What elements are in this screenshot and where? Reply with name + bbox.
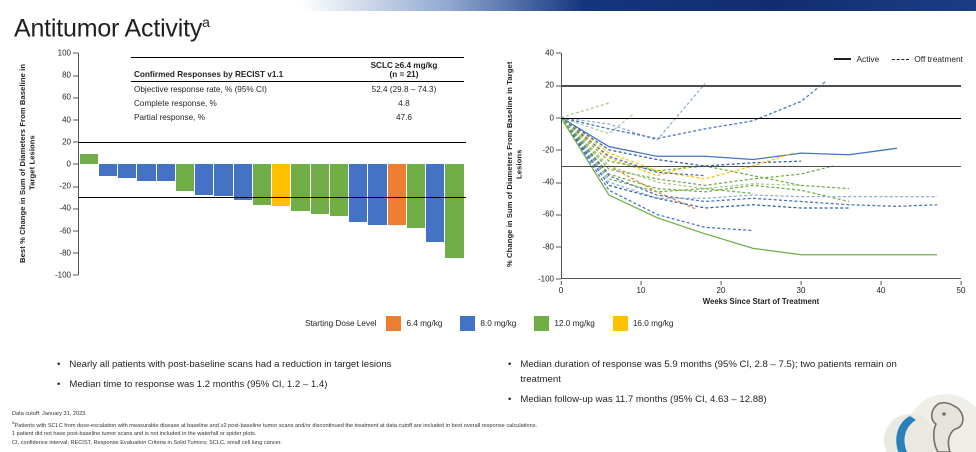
dose-legend-item: 12.0 mg/kg <box>534 316 595 331</box>
waterfall-bar <box>234 164 252 200</box>
waterfall-bar <box>253 164 271 205</box>
waterfall-bar <box>118 164 136 178</box>
waterfall-bar-slot <box>252 53 271 275</box>
dose-legend-item: 6.4 mg/kg <box>386 316 442 331</box>
spider-plot-area <box>561 53 961 279</box>
bullet-dot-icon: • <box>57 378 60 393</box>
spider-x-tick: 50 <box>957 281 966 295</box>
waterfall-bar-slot <box>118 53 137 275</box>
starting-dose-level-legend: Starting Dose Level 6.4 mg/kg8.0 mg/kg12… <box>305 316 684 331</box>
top-banner <box>300 0 976 11</box>
waterfall-bar <box>195 164 213 195</box>
spider-plot: % Change in Sum of Diameters From Baseli… <box>505 48 967 298</box>
waterfall-bar-slot <box>156 53 175 275</box>
waterfall-bar <box>388 164 406 225</box>
spider-y-tick: -20 <box>542 145 561 154</box>
spider-y-tick: -100 <box>538 275 561 284</box>
spider-x-ticks: 01020304050 <box>561 281 961 297</box>
waterfall-bar-slot <box>368 53 387 275</box>
waterfall-bar-slot <box>79 53 98 275</box>
waterfall-reference-line <box>78 197 466 198</box>
spider-series-line <box>561 84 705 141</box>
waterfall-bar-slot <box>329 53 348 275</box>
waterfall-bar-slot <box>233 53 252 275</box>
waterfall-y-tick: -80 <box>59 248 78 257</box>
spider-x-tick: 40 <box>877 281 886 295</box>
waterfall-bar <box>407 164 425 228</box>
waterfall-bar <box>214 164 232 196</box>
dose-color-swatch <box>613 316 628 331</box>
footnotes: Data cutoff: January 31, 2023. aPatients… <box>12 410 872 447</box>
waterfall-bar-slot <box>387 53 406 275</box>
waterfall-y-axis-title: Best % Change in Sum of Diameters From B… <box>18 56 32 270</box>
waterfall-y-tick: 20 <box>62 137 78 146</box>
waterfall-plot: Best % Change in Sum of Diameters From B… <box>16 48 466 293</box>
dose-color-swatch <box>386 316 401 331</box>
footnote-line: CI, confidence interval; RECIST, Respons… <box>12 439 872 448</box>
spider-reference-line <box>561 118 961 119</box>
waterfall-bar <box>137 164 155 181</box>
waterfall-bar <box>80 154 98 164</box>
waterfall-bar <box>445 164 463 258</box>
footnote-line: 1 patient did not have post-baseline tum… <box>12 430 872 439</box>
spider-y-ticks: 40200-20-40-60-80-100 <box>519 53 561 279</box>
footnote-line: aPatients with SCLC from dose-escalation… <box>12 419 872 431</box>
waterfall-bar <box>426 164 444 242</box>
bullets-left: • Nearly all patients with post-baseline… <box>57 358 487 398</box>
waterfall-y-tick: 0 <box>67 160 78 169</box>
lion-crest-icon <box>880 390 976 452</box>
spider-x-tick: 30 <box>797 281 806 295</box>
bullet-text: Median time to response was 1.2 months (… <box>69 378 487 393</box>
spider-x-tick: 0 <box>559 281 563 295</box>
spider-series-line <box>561 118 801 166</box>
page-title: Antitumor Activitya <box>14 14 210 43</box>
waterfall-y-tick: -60 <box>59 226 78 235</box>
legend-off-treatment-label: Off treatment <box>914 54 963 64</box>
dose-legend-item-label: 6.4 mg/kg <box>406 319 442 328</box>
waterfall-bar <box>311 164 329 214</box>
waterfall-y-ticks: 100806040200-20-40-60-80-100 <box>34 53 78 275</box>
legend-off-treatment-line-icon <box>892 59 909 60</box>
waterfall-y-tick: 60 <box>62 93 78 102</box>
page-title-text: Antitumor Activity <box>14 14 202 42</box>
waterfall-y-tick: 80 <box>62 71 78 80</box>
spider-series-line <box>561 118 897 160</box>
dose-color-swatch <box>460 316 475 331</box>
waterfall-bar-slot <box>195 53 214 275</box>
dose-legend-item-label: 8.0 mg/kg <box>480 319 516 328</box>
dose-legend-item: 8.0 mg/kg <box>460 316 516 331</box>
waterfall-bar <box>349 164 367 222</box>
dose-color-swatch <box>534 316 549 331</box>
bullet-dot-icon: • <box>57 358 60 373</box>
waterfall-bars <box>79 53 464 275</box>
footnote-text: Patients with SCLC from dose-escalation … <box>15 423 538 429</box>
spider-reference-line <box>561 166 961 167</box>
waterfall-y-tick: 100 <box>58 49 78 58</box>
waterfall-reference-line <box>78 142 466 143</box>
list-item: • Median follow-up was 11.7 months (95% … <box>508 393 928 408</box>
spider-series-line <box>561 82 825 139</box>
spider-y-tick: 40 <box>545 49 561 58</box>
waterfall-plot-area <box>78 53 464 275</box>
spider-y-axis-title: % Change in Sum of Diameters From Baseli… <box>505 58 519 270</box>
spider-legend: Active Off treatment <box>834 54 963 64</box>
bullet-dot-icon: • <box>508 393 511 408</box>
waterfall-y-tick: -100 <box>55 271 78 280</box>
spider-series-line <box>561 103 609 118</box>
waterfall-bar-slot <box>98 53 117 275</box>
spider-y-tick: -60 <box>542 210 561 219</box>
spider-x-tick: 10 <box>637 281 646 295</box>
dose-legend-item-label: 16.0 mg/kg <box>633 319 674 328</box>
waterfall-bar-slot <box>291 53 310 275</box>
spider-x-tick: 20 <box>717 281 726 295</box>
waterfall-bar-slot <box>406 53 425 275</box>
waterfall-bar-slot <box>426 53 445 275</box>
waterfall-bar-slot <box>349 53 368 275</box>
waterfall-bar <box>176 164 194 191</box>
spider-series-line <box>561 118 937 255</box>
waterfall-bar <box>157 164 175 181</box>
legend-active-line-icon <box>834 58 851 60</box>
list-item: • Median duration of response was 5.9 mo… <box>508 358 928 388</box>
legend-active-label: Active <box>856 54 879 64</box>
spider-y-tick: -80 <box>542 242 561 251</box>
dose-legend-item: 16.0 mg/kg <box>613 316 674 331</box>
bullets-right: • Median duration of response was 5.9 mo… <box>508 358 928 413</box>
bullet-text: Median follow-up was 11.7 months (95% CI… <box>520 393 928 408</box>
waterfall-bar <box>272 164 290 206</box>
waterfall-y-tick: -20 <box>59 182 78 191</box>
waterfall-bar <box>99 164 117 176</box>
waterfall-bar-slot <box>445 53 464 275</box>
waterfall-bar-slot <box>175 53 194 275</box>
spider-y-tick: -40 <box>542 178 561 187</box>
corner-emblem-logo <box>880 390 976 452</box>
dose-legend-item-label: 12.0 mg/kg <box>554 319 595 328</box>
waterfall-bar <box>291 164 309 211</box>
waterfall-bar-slot <box>137 53 156 275</box>
spider-y-tick: 0 <box>550 113 561 122</box>
spider-x-axis-title: Weeks Since Start of Treatment <box>561 297 961 306</box>
waterfall-bar <box>330 164 348 216</box>
bullet-dot-icon: • <box>508 358 511 388</box>
waterfall-bar-slot <box>272 53 291 275</box>
footnote-line: Data cutoff: January 31, 2023. <box>12 410 872 419</box>
page-title-superscript: a <box>202 14 210 30</box>
spider-y-tick: 20 <box>545 81 561 90</box>
spider-reference-line <box>561 85 961 86</box>
waterfall-y-tick: -40 <box>59 204 78 213</box>
bullet-text: Median duration of response was 5.9 mont… <box>520 358 928 388</box>
waterfall-bar-slot <box>214 53 233 275</box>
list-item: • Median time to response was 1.2 months… <box>57 378 487 393</box>
waterfall-bar <box>368 164 386 225</box>
spider-series-line <box>561 118 937 199</box>
spider-series-line <box>561 118 801 189</box>
list-item: • Nearly all patients with post-baseline… <box>57 358 487 373</box>
waterfall-bar-slot <box>310 53 329 275</box>
waterfall-y-tick: 40 <box>62 115 78 124</box>
bullet-text: Nearly all patients with post-baseline s… <box>69 358 487 373</box>
dose-legend-label: Starting Dose Level <box>305 319 376 328</box>
spider-series-line <box>561 118 849 208</box>
